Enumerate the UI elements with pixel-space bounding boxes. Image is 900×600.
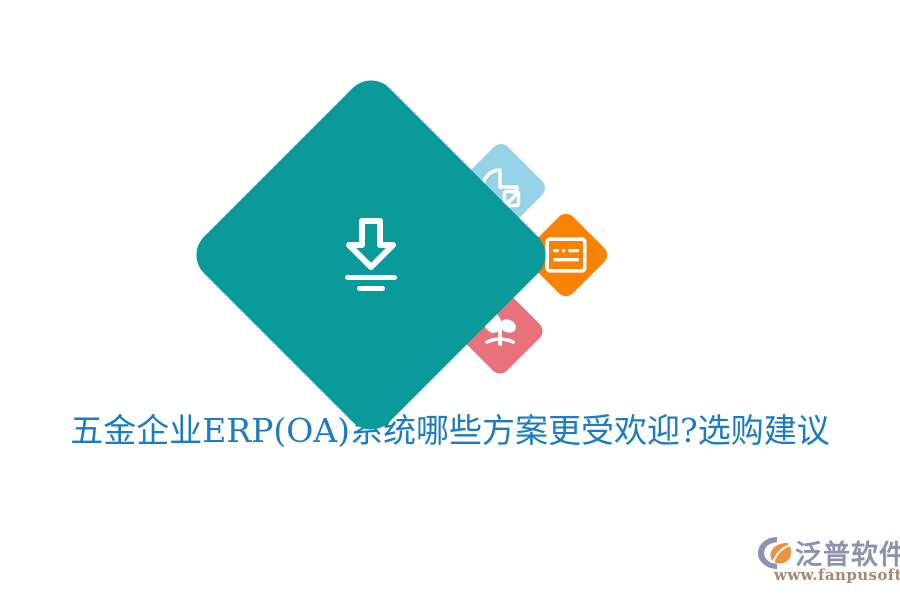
brand-url: www.fanpusoft.com (774, 566, 900, 584)
id-card-icon (545, 237, 587, 273)
fanpu-logo-icon (757, 536, 795, 570)
page-title: 五金企业ERP(OA)系统哪些方案更受欢迎?选购建议 (0, 404, 900, 452)
brand-logo: 泛普软件 www.fanpusoft.com (757, 533, 895, 591)
diamond-tile-download (186, 70, 557, 441)
diamond-icon-cluster (0, 0, 900, 400)
download-icon (327, 211, 415, 299)
page-root: 五金企业ERP(OA)系统哪些方案更受欢迎?选购建议 泛普软件 www.fanp… (0, 0, 900, 600)
